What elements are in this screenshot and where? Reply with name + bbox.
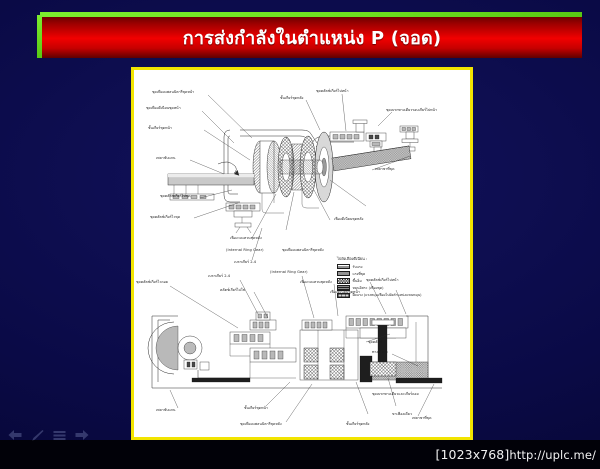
label-low-reverse-clutch: ชุดคลัตช์เกียร์ไปขุด — [160, 194, 190, 198]
label-rear-gear-shaft: ชั้นเกียร์ชุดหลัง — [280, 96, 303, 100]
label-one-way-brake-bottom: ชุดเบรกทางเดียวและเกียร์ถอย — [372, 392, 419, 396]
menu-icon[interactable] — [53, 430, 66, 441]
title-banner: การส่งกำลังในตำแหน่ง P (จอด) — [37, 12, 582, 58]
diagram-panel: ชุดเฟืองแพลนนิตารีชุดหน้า ชุดเฟืองดีเนีย… — [131, 67, 473, 440]
label-overdrive-clutch: ชุดคลัตช์เกียร์ไวขุด — [150, 215, 180, 219]
figure-bottom-schematic: ชุดคลัตช์เกียร์ไวถอย เบรกเกียร์ 2-4 คลัต… — [134, 266, 470, 437]
label-front-one-way-clutch: ชุดเฟืองดีเนียนชุดหน้า — [146, 106, 181, 110]
label-internal-ring-gear-en: (Internal Ring Gear) — [226, 248, 264, 252]
label-rear-sun-gear: เฟืองดีเนียนชุดหลัง — [334, 217, 363, 221]
label-rear-sun-gear-bottom: เฟืองดีเนียนชุดหน้า — [330, 290, 360, 294]
label-front-gear-shaft-bottom: ชั้นเกียร์ชุดหน้า — [244, 406, 268, 410]
pen-icon[interactable] — [31, 429, 44, 442]
page-title: การส่งกำลังในตำแหน่ง P (จอด) — [183, 23, 442, 52]
label-parking-pawl-bottom: ขาเฟืองเดียว — [392, 412, 412, 416]
slide-navigation[interactable] — [8, 426, 84, 444]
label-low-clutch-bottom: คลัตช์เกียร์ไปใช่ — [220, 288, 245, 292]
banner-body: การส่งกำลังในตำแหน่ง P (จอด) — [42, 17, 582, 58]
label-brake-2-4-bottom: เบรกเกียร์ 2-4 — [208, 274, 230, 278]
watermark-resolution: [1023x768] — [436, 447, 510, 462]
label-internal-ring-gear-rear-bottom: เฟืองวงแหวนชุดหลัง — [300, 280, 332, 284]
label-front-planet-carrier: ชุดเฟืองแพลนนิตารีชุดหน้า — [152, 90, 194, 94]
label-front-planet-carrier-bottom: ชุดเฟืองแพลนนิตารีชุดหลัง — [240, 422, 282, 426]
label-rear-gear-shaft-bottom: ชั้นเกียร์ชุดหลัง — [346, 422, 369, 426]
label-reverse-clutch-bottom: ชุดคลัตช์เกียร์ไวถอย — [136, 280, 168, 284]
label-internal-ring-gear-rear-th: เฟืองวงแหวนชุดหลัง — [230, 236, 262, 240]
figure-top-cutaway: ชุดเฟืองแพลนนิตารีชุดหน้า ชุดเฟืองดีเนีย… — [134, 70, 470, 270]
label-brake-2-4-top: เบรกเกียร์ 2-4 — [234, 260, 256, 264]
label-input-shaft-bottom: เพลาขับแกน — [156, 408, 176, 412]
label-input-shaft: เพลาขับแกน — [156, 156, 176, 160]
label-forward-clutch: ชุดคลัตช์เกียร์ไปหน้า — [316, 89, 349, 93]
label-forward-clutch-bottom: ชุดคลัตช์เกียร์ไปหน้า — [366, 278, 399, 282]
watermark: [1023x768]http://uplc.me/ — [436, 447, 596, 462]
slide: การส่งกำลังในตำแหน่ง P (จอด) — [0, 0, 600, 469]
watermark-url: http://uplc.me/ — [509, 448, 596, 462]
label-one-way-direction-bottom: ทางเดียวร — [372, 350, 388, 354]
diagram-panel-inner: ชุดเฟืองแพลนนิตารีชุดหน้า ชุดเฟืองดีเนีย… — [134, 70, 470, 437]
label-ring-gear-rear-en-bottom: (Internal Ring Gear) — [270, 270, 308, 274]
forward-arrow-icon[interactable] — [75, 429, 89, 441]
label-front-gear-shaft: ชั้นเกียร์ชุดหน้า — [148, 126, 172, 130]
label-clutch-set-bottom: ชุดคลัตช์ — [368, 340, 382, 344]
label-reverse-band-clutch: ชุดเบรกทางเดียวรอบเกียร์ไปหน้า — [386, 108, 437, 112]
legend-title: ไปยังเฟืองดีเนียน : — [337, 256, 449, 262]
label-rear-planet-carrier: ชุดเฟืองแพลนนิตารีชุดหลัง — [282, 248, 324, 252]
label-output-shaft-bottom: เพลาขาที่ขุด — [412, 416, 431, 420]
label-output-shaft: เพลาขาที่ขุด — [375, 167, 394, 171]
back-arrow-icon[interactable] — [8, 429, 22, 441]
